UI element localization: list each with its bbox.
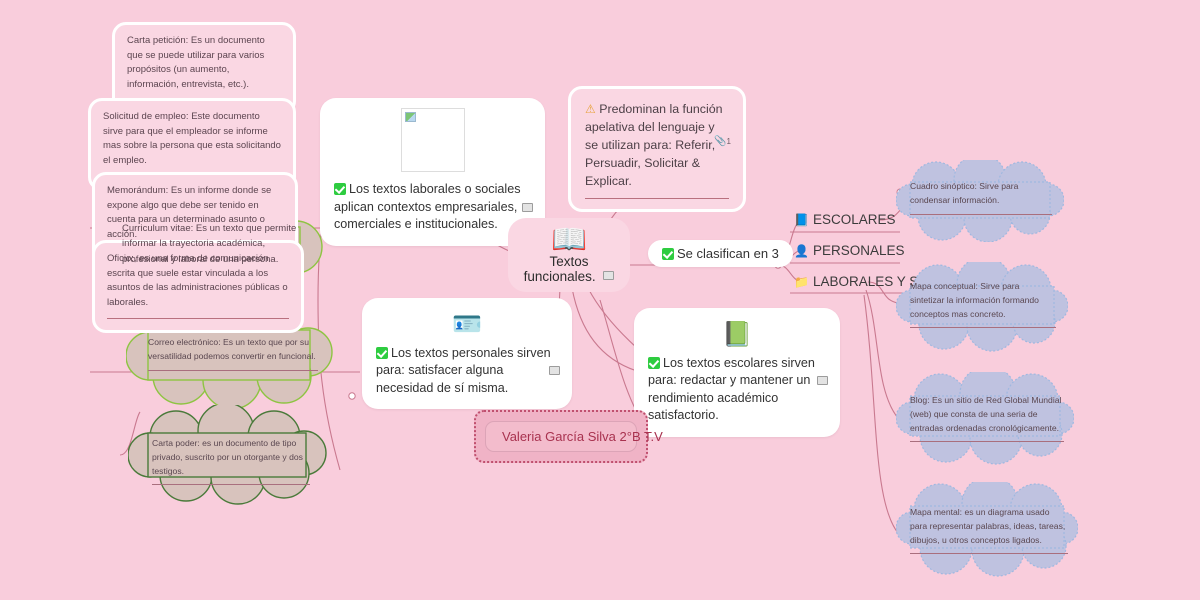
cloud-correo-electronico-text: Correo electrónico: Es un texto que por … <box>148 337 316 361</box>
note-funcion-apelativa[interactable]: ⚠ Predominan la función apelativa del le… <box>568 86 746 212</box>
card-media-wrap <box>334 108 531 177</box>
node-se-clasifican-en-3[interactable]: Se clasifican en 3 <box>648 240 793 267</box>
cloud-mapa-conceptual[interactable]: Mapa conceptual: Sirve para sintetizar l… <box>896 262 1068 352</box>
divider <box>910 214 1052 215</box>
green-check-icon <box>648 357 660 369</box>
card-body: Los textos laborales o sociales aplican … <box>334 181 531 233</box>
green-check-icon <box>376 347 388 359</box>
mindmap-canvas[interactable]: Correo electrónico: Es un texto que por … <box>0 0 1200 600</box>
cloud-mapa-conceptual-text: Mapa conceptual: Sirve para sintetizar l… <box>910 281 1039 319</box>
note-icon[interactable] <box>817 376 828 385</box>
note-icon[interactable] <box>549 366 560 375</box>
center-node-textos-funcionales[interactable]: 📖 Textos funcionales. <box>508 218 630 292</box>
node-se-clasifican-en-3-label: Se clasifican en 3 <box>677 246 779 261</box>
author-name: Valeria García Silva 2°B T.V <box>485 421 637 452</box>
card-escolares-text: Los textos escolares sirven para: redact… <box>648 356 815 422</box>
card-body: Los textos escolares sirven para: redact… <box>648 355 826 425</box>
warning-triangle-icon: ⚠ <box>585 102 596 116</box>
card-personales-text: Los textos personales sirven para: satis… <box>376 346 551 395</box>
cloud-blog-text: Blog: Es un sitio de Red Global Mundial … <box>910 395 1061 433</box>
note-curriculum-vitae[interactable]: Curriculum vitae: Es un texto que permit… <box>122 221 302 267</box>
cloud-mapa-mental-text-wrap: Mapa mental: es un diagrama usado para r… <box>910 506 1068 554</box>
branch-escolares[interactable]: 📘ESCOLARES <box>788 210 901 229</box>
note-carta-peticion-text: Carta petición: Es un documento que se p… <box>127 35 265 90</box>
divider <box>152 484 310 485</box>
cloud-correo-electronico-text-wrap: Correo electrónico: Es un texto que por … <box>148 336 318 371</box>
cloud-mapa-mental[interactable]: Mapa mental: es un diagrama usado para r… <box>896 482 1078 578</box>
divider <box>585 198 729 199</box>
green-check-icon <box>662 248 674 260</box>
note-curriculum-vitae-text: Curriculum vitae: Es un texto que permit… <box>122 223 296 265</box>
divider <box>910 441 1064 442</box>
note-icon[interactable] <box>522 203 533 212</box>
identification-card-icon: 🪪 <box>452 310 482 338</box>
cloud-cuadro-sinoptico[interactable]: Cuadro sinóptico: Sirve para condensar i… <box>896 160 1064 242</box>
green-book-icon: 📗 <box>722 320 752 348</box>
note-solicitud-empleo-text: Solicitud de empleo: Este documento sirv… <box>103 111 281 166</box>
card-body: Los textos personales sirven para: satis… <box>376 345 558 397</box>
card-laborales-sociales-text: Los textos laborales o sociales aplican … <box>334 182 521 231</box>
paperclip-icon[interactable]: 📎1 <box>714 135 731 150</box>
note-icon[interactable] <box>603 271 614 280</box>
card-media-wrap: 📗 <box>648 318 826 351</box>
center-node-label: Textos funcionales. <box>524 254 596 284</box>
card-media-wrap: 🪪 <box>376 308 558 341</box>
divider <box>107 318 289 319</box>
file-folder-icon: 📁 <box>794 275 809 289</box>
cloud-cuadro-sinoptico-text-wrap: Cuadro sinóptico: Sirve para condensar i… <box>910 180 1052 215</box>
cloud-mapa-conceptual-text-wrap: Mapa conceptual: Sirve para sintetizar l… <box>910 280 1056 328</box>
card-personales[interactable]: 🪪 Los textos personales sirven para: sat… <box>362 298 572 409</box>
cloud-carta-poder-text-wrap: Carta poder: es un documento de tipo pri… <box>152 437 310 485</box>
green-check-icon <box>334 183 346 195</box>
card-laborales-sociales[interactable]: Los textos laborales o sociales aplican … <box>320 98 545 246</box>
divider <box>148 370 318 371</box>
branch-personales-label: PERSONALES <box>813 243 905 258</box>
cloud-mapa-mental-text: Mapa mental: es un diagrama usado para r… <box>910 507 1065 545</box>
cloud-carta-poder-text: Carta poder: es un documento de tipo pri… <box>152 438 303 476</box>
cloud-blog[interactable]: Blog: Es un sitio de Red Global Mundial … <box>896 372 1074 466</box>
author-node[interactable]: Valeria García Silva 2°B T.V <box>474 410 648 463</box>
divider <box>910 327 1056 328</box>
card-escolares[interactable]: 📗 Los textos escolares sirven para: reda… <box>634 308 840 437</box>
note-funcion-apelativa-text: Predominan la función apelativa del leng… <box>585 102 723 188</box>
attachment-count: 1 <box>727 137 731 146</box>
bust-in-silhouette-icon: 👤 <box>794 244 809 258</box>
branch-escolares-label: ESCOLARES <box>813 212 896 227</box>
cloud-blog-text-wrap: Blog: Es un sitio de Red Global Mundial … <box>910 394 1064 442</box>
cloud-cuadro-sinoptico-text: Cuadro sinóptico: Sirve para condensar i… <box>910 181 1018 205</box>
broken-image-icon <box>401 108 465 172</box>
branch-personales[interactable]: 👤PERSONALES <box>788 241 911 260</box>
open-book-icon: 📖 <box>522 224 616 254</box>
cloud-carta-poder[interactable]: Carta poder: es un documento de tipo pri… <box>128 405 328 505</box>
divider <box>910 553 1068 554</box>
blue-book-icon: 📘 <box>794 213 809 227</box>
